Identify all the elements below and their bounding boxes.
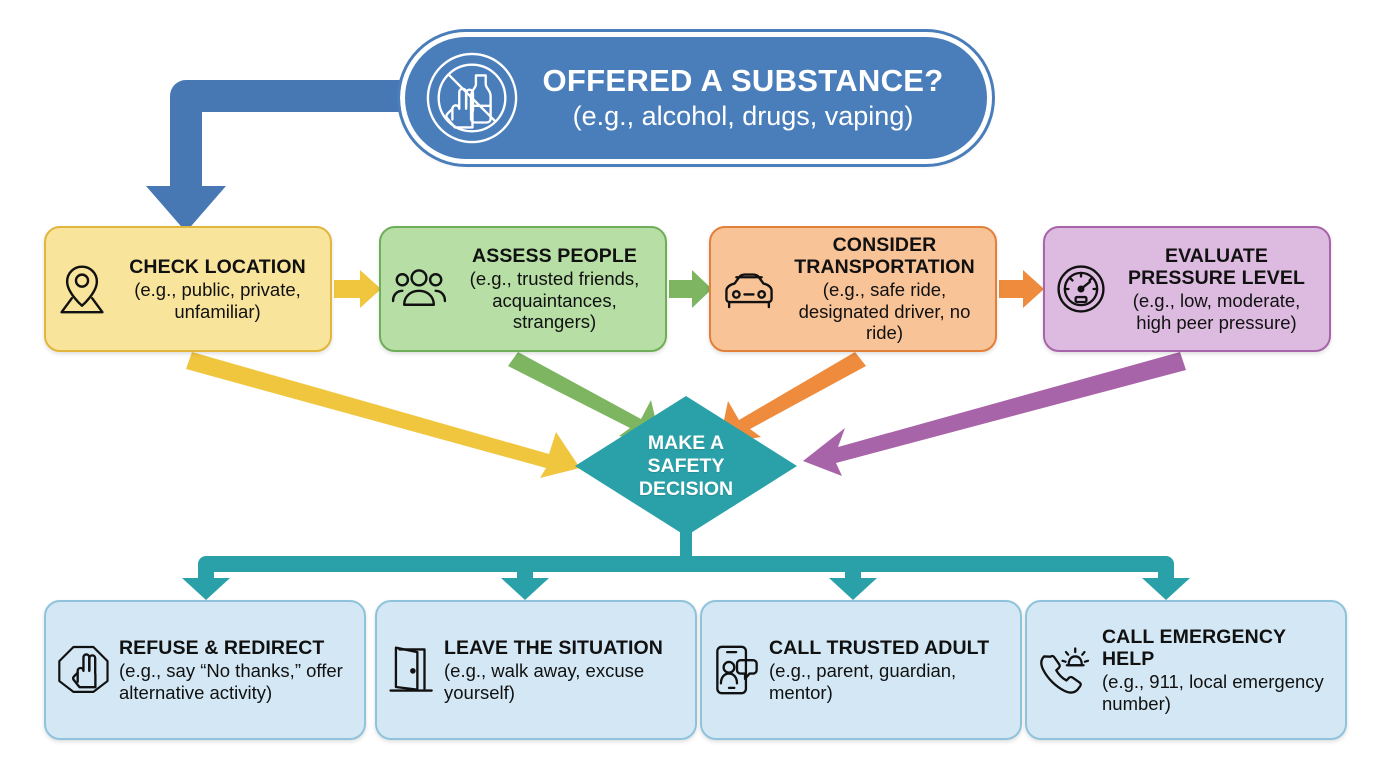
car-icon [721, 267, 777, 311]
connector-assess-people-to-consider-transportation [669, 270, 712, 308]
node-title: ASSESS PEOPLE [454, 245, 655, 267]
node-evaluate-pressure[interactable]: EVALUATE PRESSURE LEVEL (e.g., low, mode… [1043, 226, 1331, 352]
node-subtitle: (e.g., public, private, unfamiliar) [115, 279, 320, 322]
node-text-block: CALL EMERGENCY HELP (e.g., 911, local em… [1102, 626, 1335, 714]
node-title: LEAVE THE SITUATION [444, 637, 685, 659]
header-title: OFFERED A SUBSTANCE? [521, 64, 965, 99]
node-subtitle: (e.g., trusted friends, acquaintances, s… [454, 268, 655, 333]
node-consider-transportation[interactable]: CONSIDER TRANSPORTATION (e.g., safe ride… [709, 226, 997, 352]
connector-header-to-check-location [146, 80, 404, 236]
node-text-block: REFUSE & REDIRECT (e.g., say “No thanks,… [119, 637, 354, 703]
decision-diamond-make-a-safety-decision[interactable]: MAKE A SAFETY DECISION [575, 396, 797, 536]
header-subtitle: (e.g., alcohol, drugs, vaping) [521, 100, 965, 132]
emergency-call-icon [1037, 644, 1095, 697]
open-door-icon [387, 642, 437, 698]
connector-check-location-to-assess-people [334, 270, 381, 308]
node-title: CHECK LOCATION [115, 256, 320, 278]
connector-decision-to-actions-bus [182, 530, 1190, 600]
node-subtitle: (e.g., low, moderate, high peer pressure… [1114, 290, 1319, 333]
node-check-location[interactable]: CHECK LOCATION (e.g., public, private, u… [44, 226, 332, 352]
flowchart-canvas: OFFERED A SUBSTANCE? (e.g., alcohol, dru… [0, 0, 1376, 768]
diamond-label: MAKE A SAFETY DECISION [575, 396, 797, 536]
node-text-block: EVALUATE PRESSURE LEVEL (e.g., low, mode… [1114, 245, 1319, 333]
node-text-block: CONSIDER TRANSPORTATION (e.g., safe ride… [784, 234, 985, 344]
node-text-block: CHECK LOCATION (e.g., public, private, u… [115, 256, 320, 322]
node-subtitle: (e.g., parent, guardian, mentor) [769, 660, 1010, 703]
stop-hand-icon [56, 642, 112, 698]
node-title: CALL TRUSTED ADULT [769, 637, 1010, 659]
node-subtitle: (e.g., safe ride, designated driver, no … [784, 279, 985, 344]
diamond-line-1: MAKE A [648, 432, 724, 455]
node-assess-people[interactable]: ASSESS PEOPLE (e.g., trusted friends, ac… [379, 226, 667, 352]
node-subtitle: (e.g., 911, local emergency number) [1102, 671, 1335, 714]
connector-consider-transportation-to-evaluate-pressure [999, 270, 1044, 308]
diamond-line-2: SAFETY [648, 455, 725, 478]
node-leave-situation[interactable]: LEAVE THE SITUATION (e.g., walk away, ex… [375, 600, 697, 740]
node-refuse-redirect[interactable]: REFUSE & REDIRECT (e.g., say “No thanks,… [44, 600, 366, 740]
gauge-icon [1055, 263, 1107, 315]
phone-contact-icon [712, 642, 762, 698]
node-subtitle: (e.g., walk away, excuse yourself) [444, 660, 685, 703]
header-text-block: OFFERED A SUBSTANCE? (e.g., alcohol, dru… [521, 64, 987, 132]
people-group-icon [391, 264, 447, 314]
node-text-block: LEAVE THE SITUATION (e.g., walk away, ex… [444, 637, 685, 703]
no-alcohol-icon [423, 49, 521, 147]
node-title: EVALUATE PRESSURE LEVEL [1114, 245, 1319, 289]
node-title: CALL EMERGENCY HELP [1102, 626, 1335, 670]
node-subtitle: (e.g., say “No thanks,” offer alternativ… [119, 660, 354, 703]
node-text-block: ASSESS PEOPLE (e.g., trusted friends, ac… [454, 245, 655, 333]
node-title: REFUSE & REDIRECT [119, 637, 354, 659]
connector-evaluate-pressure-to-decision [803, 352, 1186, 476]
node-title: CONSIDER TRANSPORTATION [784, 234, 985, 278]
node-text-block: CALL TRUSTED ADULT (e.g., parent, guardi… [769, 637, 1010, 703]
connector-check-location-to-decision [186, 352, 580, 478]
map-pin-icon [56, 261, 108, 317]
node-call-trusted-adult[interactable]: CALL TRUSTED ADULT (e.g., parent, guardi… [700, 600, 1022, 740]
node-call-emergency-help[interactable]: CALL EMERGENCY HELP (e.g., 911, local em… [1025, 600, 1347, 740]
header-offered-a-substance[interactable]: OFFERED A SUBSTANCE? (e.g., alcohol, dru… [400, 32, 992, 164]
diamond-line-3: DECISION [639, 478, 733, 501]
